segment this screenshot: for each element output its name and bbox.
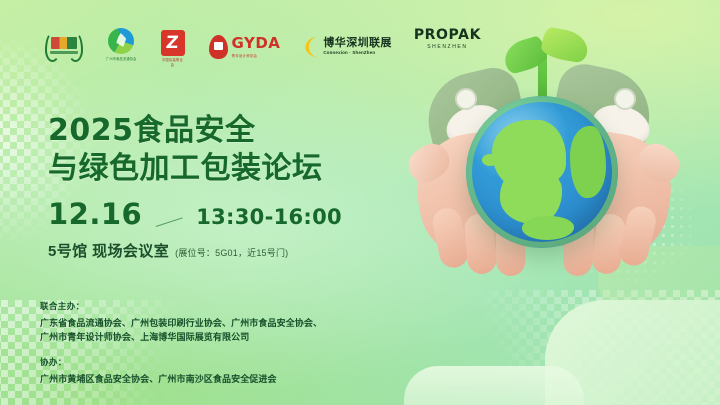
event-date: 12.16 <box>48 200 142 229</box>
supporter-block: 协办： 广州市黄埔区食品安全协会、广州市南沙区食品安全促进会 <box>40 356 277 387</box>
date-time-separator-icon <box>156 213 182 229</box>
headline-line-1: 2025食品安全 <box>48 113 256 148</box>
crescent-icon <box>302 37 319 58</box>
event-poster: 广州市食品流通协会 Z 中国包装联合会 GYDA 青年设计师协会 博华深圳联展 … <box>0 0 720 405</box>
coorganizer-block: 联合主办： 广东省食品流通协会、广州包装印刷行业协会、广州市食品安全协会、 广州… <box>40 300 322 345</box>
venue-booth-note: (展位号：5G01，近15号门) <box>175 246 288 259</box>
venue-name: 5号馆 现场会议室 <box>48 240 169 261</box>
connexion-english-name: Connexion · ShenZhen <box>323 51 391 55</box>
event-venue: 5号馆 现场会议室 (展位号：5G01，近15号门) <box>48 240 288 261</box>
headline-line-2: 与绿色加工包装论坛 <box>48 150 388 188</box>
connexion-chinese-name: 博华深圳联展 <box>323 38 391 49</box>
right-sleeve-button-icon <box>614 88 636 110</box>
gyda-logo: GYDA 青年设计师协会 <box>209 28 281 66</box>
decorative-plate-center <box>404 366 584 405</box>
gyda-wordmark: GYDA <box>232 36 281 51</box>
z-badge-caption: 中国包装联合会 <box>162 57 184 64</box>
decorative-plate-lower <box>545 300 720 405</box>
connexion-shenzhen-logo: 博华深圳联展 Connexion · ShenZhen <box>302 28 391 66</box>
coorganizer-line-2: 广州市青年设计师协会、上海博华国际展览有限公司 <box>40 331 322 345</box>
event-time: 13:30-16:00 <box>196 207 342 229</box>
gyda-mark-icon <box>209 35 228 59</box>
propak-wordmark: PROPAK <box>414 28 481 42</box>
event-datetime: 12.16 13:30-16:00 <box>48 200 342 229</box>
coorganizer-heading: 联合主办： <box>40 300 322 312</box>
supporter-heading: 协办： <box>40 356 277 368</box>
wreath-award-logo <box>44 28 84 66</box>
guangzhou-logo-caption: 广州市食品流通协会 <box>106 56 137 61</box>
propak-city: SHENZHEN <box>427 45 467 50</box>
sprout-leaf-right <box>540 26 591 64</box>
coorganizer-line-1: 广东省食品流通协会、广州包装印刷行业协会、广州市食品安全协会、 <box>40 317 322 331</box>
propak-shenzhen-logo: PROPAK SHENZHEN <box>414 28 481 66</box>
guangzhou-circular-logo: 广州市食品流通协会 <box>106 28 137 66</box>
red-z-badge-logo: Z 中国包装联合会 <box>159 28 187 66</box>
supporter-line-1: 广州市黄埔区食品安全协会、广州市南沙区食品安全促进会 <box>40 373 277 387</box>
left-sleeve-button-icon <box>455 88 477 110</box>
sponsor-logo-strip: 广州市食品流通协会 Z 中国包装联合会 GYDA 青年设计师协会 博华深圳联展 … <box>44 28 481 66</box>
page-title: 2025食品安全 与绿色加工包装论坛 <box>48 112 388 188</box>
z-badge-letter: Z <box>165 35 179 52</box>
circular-emblem-icon <box>108 28 134 54</box>
earth-globe <box>466 96 618 248</box>
gyda-caption: 青年设计师协会 <box>232 53 281 58</box>
globe-rim <box>466 96 618 248</box>
